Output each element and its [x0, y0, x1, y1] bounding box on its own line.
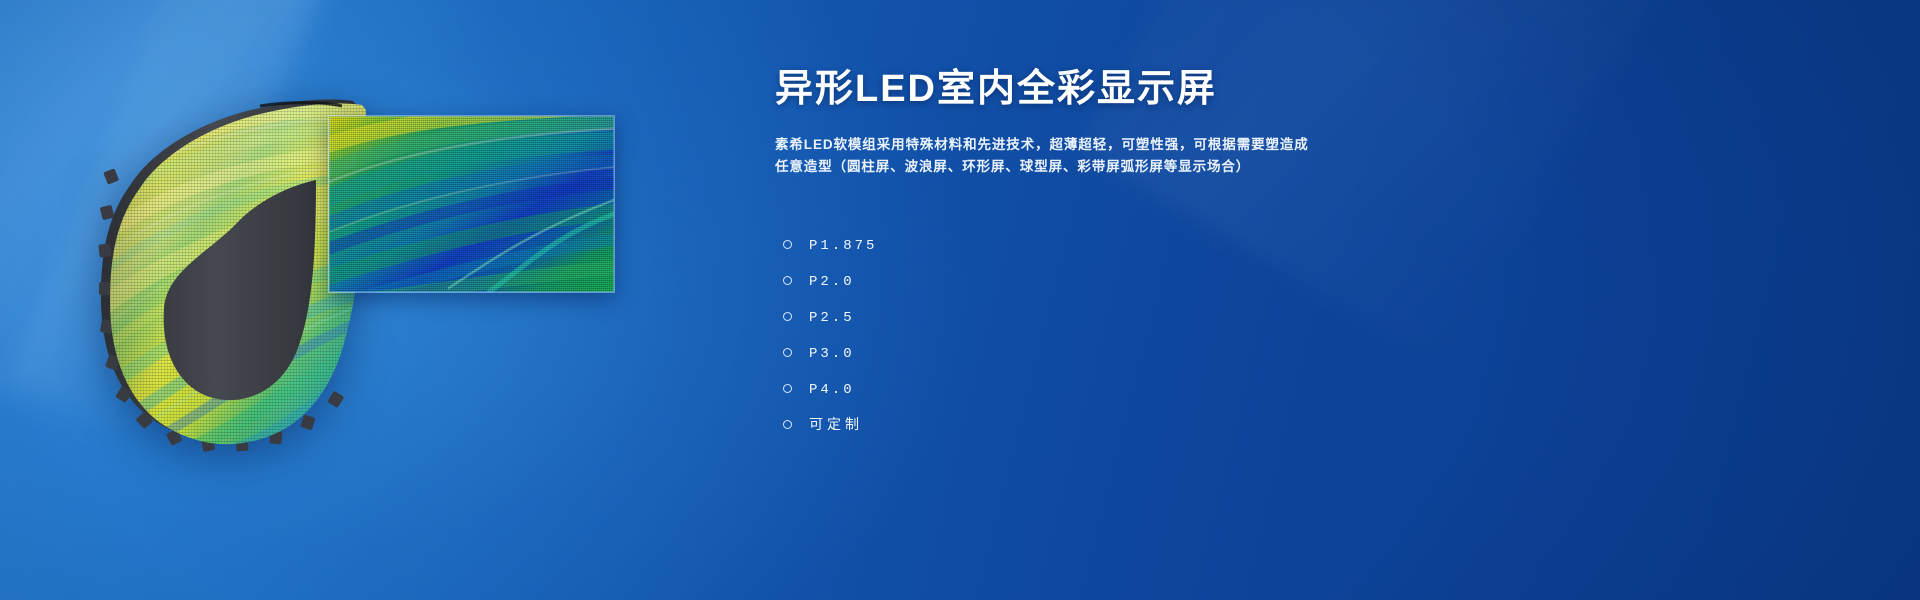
- bullet-circle-icon: [783, 384, 792, 393]
- spec-label: 可定制: [809, 416, 863, 432]
- list-item[interactable]: P2.0: [775, 262, 877, 298]
- banner-copy: 异形LED室内全彩显示屏 素希LED软模组采用特殊材料和先进技术，超薄超轻，可塑…: [775, 68, 1495, 178]
- light-ray-decoration: [1078, 0, 1702, 360]
- spec-label: P4.0: [809, 382, 855, 398]
- spec-label: P2.5: [809, 310, 855, 326]
- page-title: 异形LED室内全彩显示屏: [775, 68, 1495, 112]
- inset-led-panel-graphic: [329, 116, 614, 292]
- description-line-2: 任意造型（圆柱屏、波浪屏、环形屏、球型屏、彩带屏弧形屏等显示场合）: [775, 156, 1495, 178]
- banner-description: 素希LED软模组采用特殊材料和先进技术，超薄超轻，可塑性强，可根据需要塑造成 任…: [775, 134, 1495, 178]
- bullet-circle-icon: [783, 276, 792, 285]
- spec-label: P3.0: [809, 346, 855, 362]
- spec-label: P1.875: [809, 238, 877, 254]
- bullet-circle-icon: [783, 240, 792, 249]
- list-item[interactable]: P3.0: [775, 334, 877, 370]
- bullet-circle-icon: [783, 348, 792, 357]
- bullet-circle-icon: [783, 312, 792, 321]
- spec-label: P2.0: [809, 274, 855, 290]
- bullet-circle-icon: [783, 420, 792, 429]
- list-item[interactable]: P2.5: [775, 298, 877, 334]
- inset-led-panel: [328, 115, 615, 293]
- list-item[interactable]: P4.0: [775, 370, 877, 406]
- list-item[interactable]: P1.875: [775, 226, 877, 262]
- banner-stage: 异形LED室内全彩显示屏 素希LED软模组采用特殊材料和先进技术，超薄超轻，可塑…: [0, 0, 1920, 600]
- pixel-pitch-spec-list: P1.875 P2.0 P2.5 P3.0 P4.0 可定制: [775, 226, 877, 442]
- list-item[interactable]: 可定制: [775, 406, 877, 442]
- description-line-1: 素希LED软模组采用特殊材料和先进技术，超薄超轻，可塑性强，可根据需要塑造成: [775, 134, 1495, 156]
